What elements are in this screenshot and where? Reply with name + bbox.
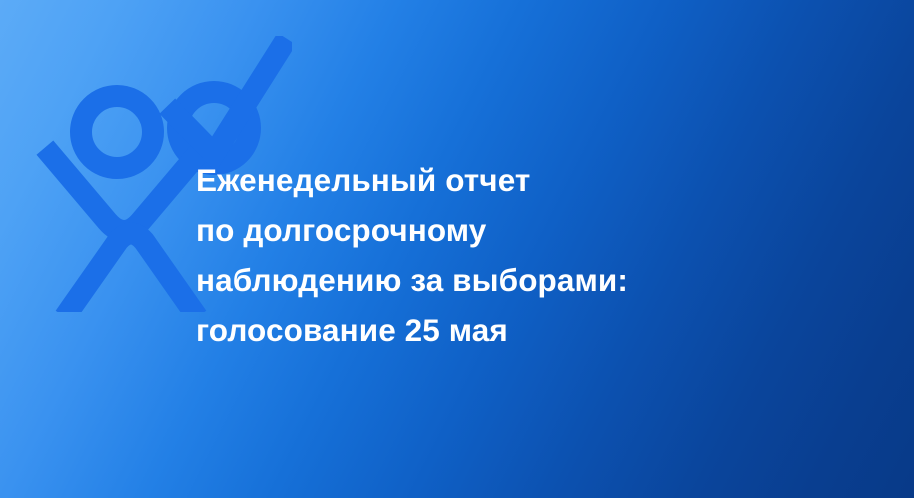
logo-right-ring (178, 92, 250, 164)
page-title: Еженедельный отчет по долгосрочному набл… (196, 155, 816, 355)
logo-checkmark-icon (175, 48, 281, 154)
title-line-1: Еженедельный отчет (196, 155, 816, 205)
logo-arms-curve (52, 156, 196, 231)
report-cover-banner: Еженедельный отчет по долгосрочному набл… (0, 0, 914, 498)
logo-legs-shape (71, 234, 191, 309)
title-line-2: по долгосрочному (196, 205, 816, 255)
title-line-3: наблюдению за выборами: (196, 255, 816, 305)
logo-left-ring (81, 96, 153, 168)
title-line-4: голосование 25 мая (196, 305, 816, 355)
